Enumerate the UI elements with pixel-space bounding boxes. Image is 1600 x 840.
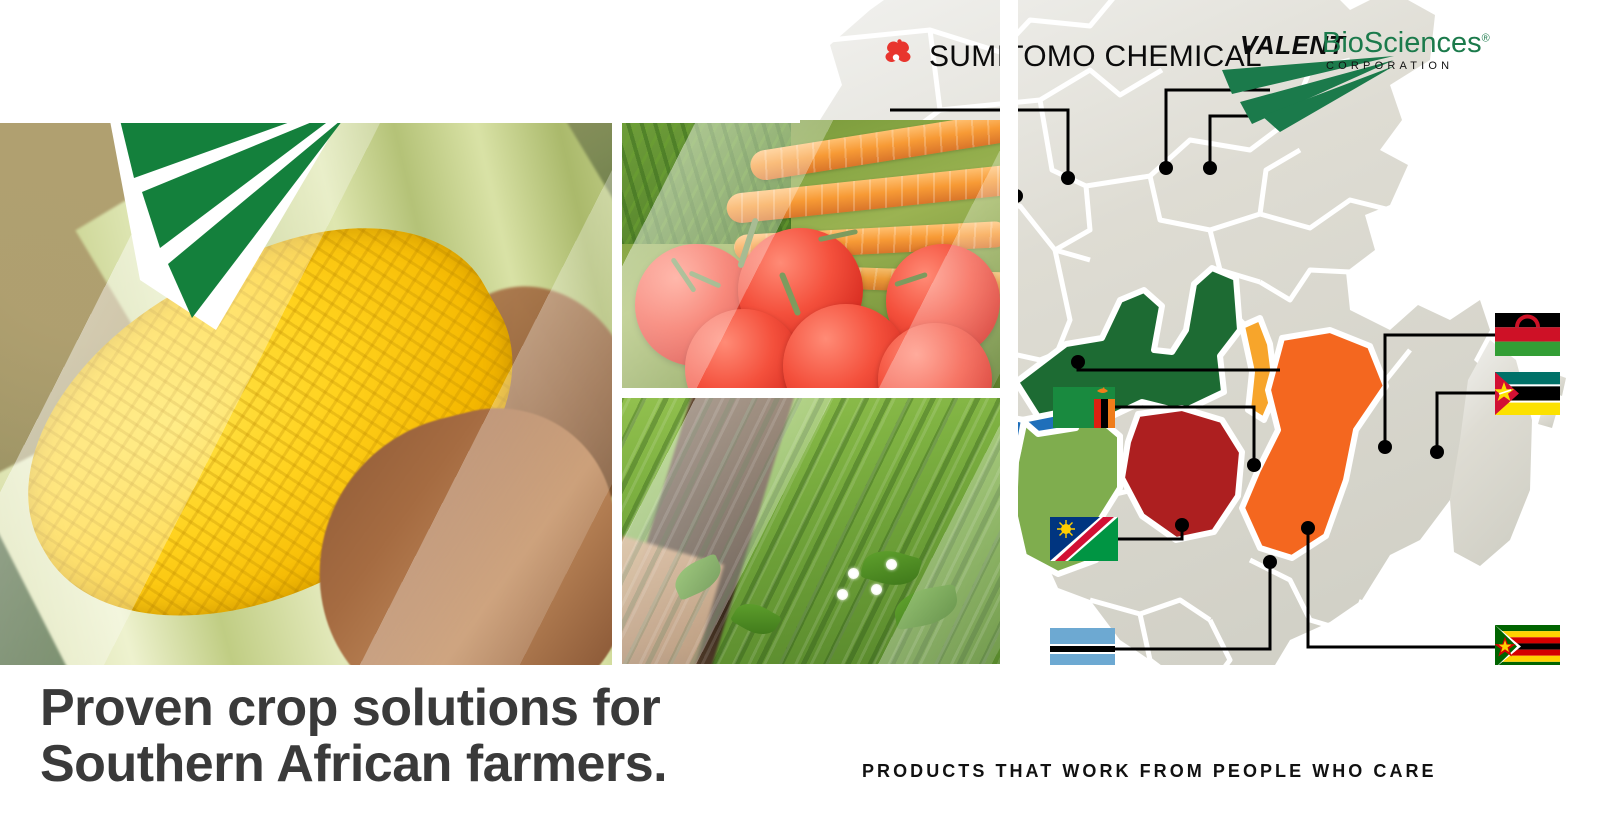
dot-malawi (1159, 161, 1173, 175)
biosciences-text: BioSciences (1322, 27, 1482, 59)
dot-zimbabwe (1071, 355, 1085, 369)
photo-tomatoes-and-carrots (620, 120, 1000, 390)
poster-canvas: PHILAGRO SUMITOMO CHEMICAL VALENT BioSci… (0, 0, 1600, 840)
sumitomo-diamond-mark-icon (874, 39, 918, 75)
valent-corporation-subtitle: CORPORATION (1326, 60, 1453, 72)
flag-zimbabwe (1495, 625, 1560, 668)
valent-biosciences-logo: VALENT BioSciences® CORPORATION (1222, 28, 1542, 128)
dot-mozambique (1203, 161, 1217, 175)
top-white-bar (0, 0, 800, 123)
sumitomo-wordmark: SUMITOMO CHEMICAL (929, 40, 1262, 74)
sumitomo-chemical-logo: SUMITOMO CHEMICAL (874, 36, 1262, 78)
flag-botswana (1050, 628, 1115, 670)
collage-gutter-h (612, 388, 1004, 398)
map-left-gutter (1000, 0, 1018, 770)
registered-mark: ® (1482, 32, 1490, 44)
dot-zambia (1061, 171, 1075, 185)
flag-malawi (1495, 313, 1560, 356)
headline-line-1: Proven crop solutions for (40, 680, 800, 736)
flag-zambia (1053, 387, 1115, 428)
page-headline: Proven crop solutions for Southern Afric… (40, 680, 800, 792)
biosciences-wordmark: BioSciences® (1322, 27, 1490, 60)
headline-line-2: Southern African farmers. (40, 736, 800, 792)
photo-potato-field-rows (620, 396, 1000, 664)
tagline: PRODUCTS THAT WORK FROM PEOPLE WHO CARE (862, 761, 1437, 782)
flag-namibia (1050, 517, 1118, 561)
flag-mozambique (1495, 372, 1560, 415)
